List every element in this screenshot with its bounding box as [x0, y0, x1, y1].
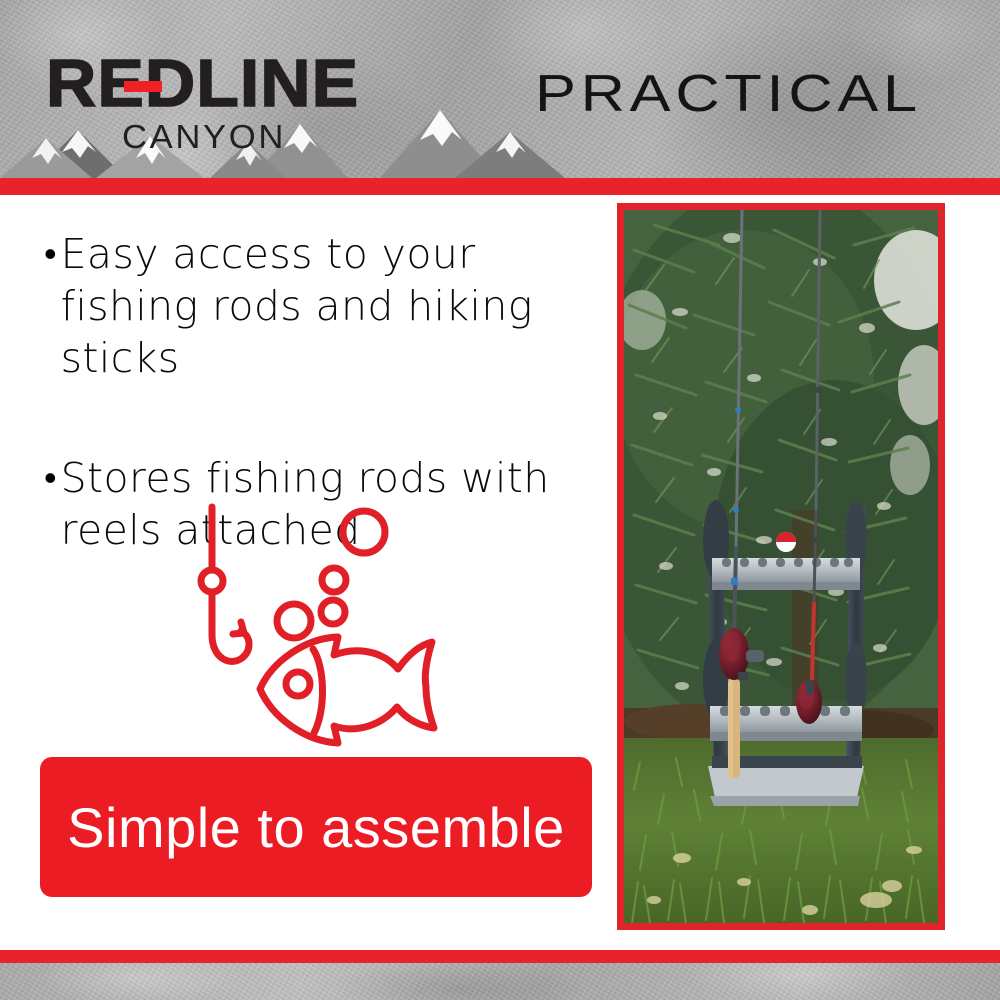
content-area: • Easy access to your fishing rods and h… — [0, 195, 1000, 950]
brand-logo: REDLINE CANYON — [46, 52, 347, 156]
bullet-marker-icon: • — [44, 228, 57, 280]
product-photo-rod-rack — [617, 203, 945, 930]
spruce-tree — [624, 210, 938, 740]
brand-name-redline: REDLINE — [46, 52, 359, 116]
bubble-icon — [343, 511, 385, 553]
bubble-icon — [322, 568, 346, 592]
bullet-text: Easy access to your fishing rods and hik… — [61, 228, 604, 384]
concrete-texture — [0, 963, 1000, 1000]
photo-inner — [624, 210, 938, 923]
fish-eye-icon — [286, 672, 310, 696]
bubble-icon — [277, 604, 311, 638]
simple-to-assemble-button[interactable]: Simple to assemble — [40, 757, 592, 897]
footer-concrete — [0, 963, 1000, 1000]
footer-accent-bar — [0, 950, 1000, 963]
fish-gill — [313, 649, 323, 733]
header-banner: REDLINE CANYON PRACTICAL — [0, 0, 1000, 178]
red-dash-icon — [124, 81, 162, 92]
list-item: • Easy access to your fishing rods and h… — [44, 228, 604, 384]
section-title: PRACTICAL — [535, 64, 922, 124]
photo-illustration — [624, 210, 938, 923]
cta-label: Simple to assemble — [67, 795, 565, 860]
bullet-marker-icon: • — [44, 452, 57, 504]
fish-and-hook-icon — [186, 495, 486, 755]
hook-eye-icon — [201, 570, 223, 592]
brand-name-canyon: CANYON — [122, 118, 358, 156]
bubble-icon — [321, 600, 345, 624]
product-infographic-page: REDLINE CANYON PRACTICAL • Easy access t… — [0, 0, 1000, 1000]
header-accent-bar — [0, 178, 1000, 195]
